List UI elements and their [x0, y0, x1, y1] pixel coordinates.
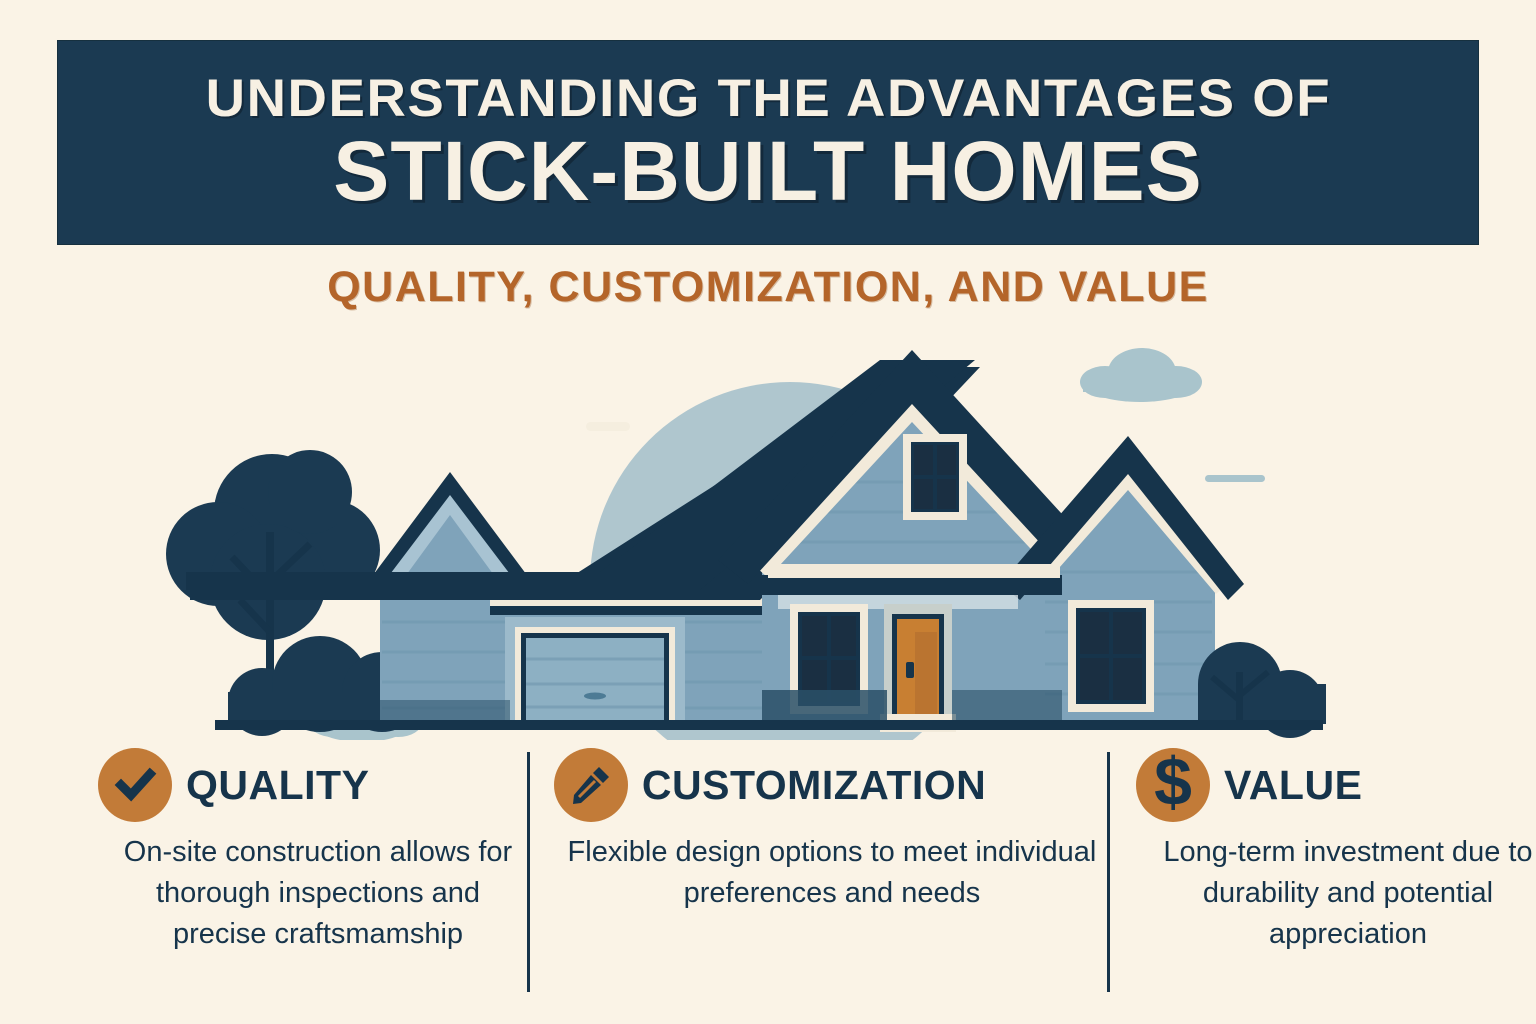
feature-customization-description: Flexible design options to meet individu… — [562, 832, 1102, 914]
check-icon — [113, 763, 157, 807]
pencil-icon — [569, 763, 613, 807]
feature-value-title: VALUE — [1224, 762, 1362, 809]
dollar-sign-icon: $ — [1142, 747, 1204, 823]
house-illustration-svg — [0, 332, 1536, 740]
cloud-dash-icon — [1205, 475, 1265, 482]
feature-quality-description: On-site construction allows for thorough… — [122, 832, 514, 956]
feature-value-description: Long-term investment due to durability a… — [1158, 832, 1536, 956]
feature-value: $ VALUE Long-term investment due to dura… — [1136, 748, 1536, 1010]
feature-value-header: $ VALUE — [1136, 748, 1536, 822]
feature-customization-header: CUSTOMIZATION — [554, 748, 1106, 822]
feature-quality: QUALITY On-site construction allows for … — [98, 748, 522, 1010]
feature-quality-header: QUALITY — [98, 748, 522, 822]
subtitle: QUALITY, CUSTOMIZATION, AND VALUE — [0, 263, 1536, 312]
pencil-circle-icon — [554, 748, 628, 822]
title-line-1: UNDERSTANDING THE ADVANTAGES OF — [205, 72, 1331, 125]
feature-quality-title: QUALITY — [186, 762, 369, 809]
check-circle-icon — [98, 748, 172, 822]
feature-customization-title: CUSTOMIZATION — [642, 762, 986, 809]
features-row: QUALITY On-site construction allows for … — [0, 748, 1536, 1010]
feature-divider-1 — [527, 752, 530, 992]
feature-divider-2 — [1107, 752, 1110, 992]
cloud-right-icon — [1080, 348, 1202, 402]
svg-text:$: $ — [1154, 744, 1192, 820]
feature-customization: CUSTOMIZATION Flexible design options to… — [554, 748, 1106, 1010]
dollar-circle-icon: $ — [1136, 748, 1210, 822]
title-banner: UNDERSTANDING THE ADVANTAGES OF STICK-BU… — [58, 41, 1478, 244]
house-illustration — [0, 332, 1536, 740]
ground-line — [215, 720, 1323, 730]
title-line-2: STICK-BUILT HOMES — [333, 129, 1202, 213]
door-handle-icon — [906, 662, 914, 678]
